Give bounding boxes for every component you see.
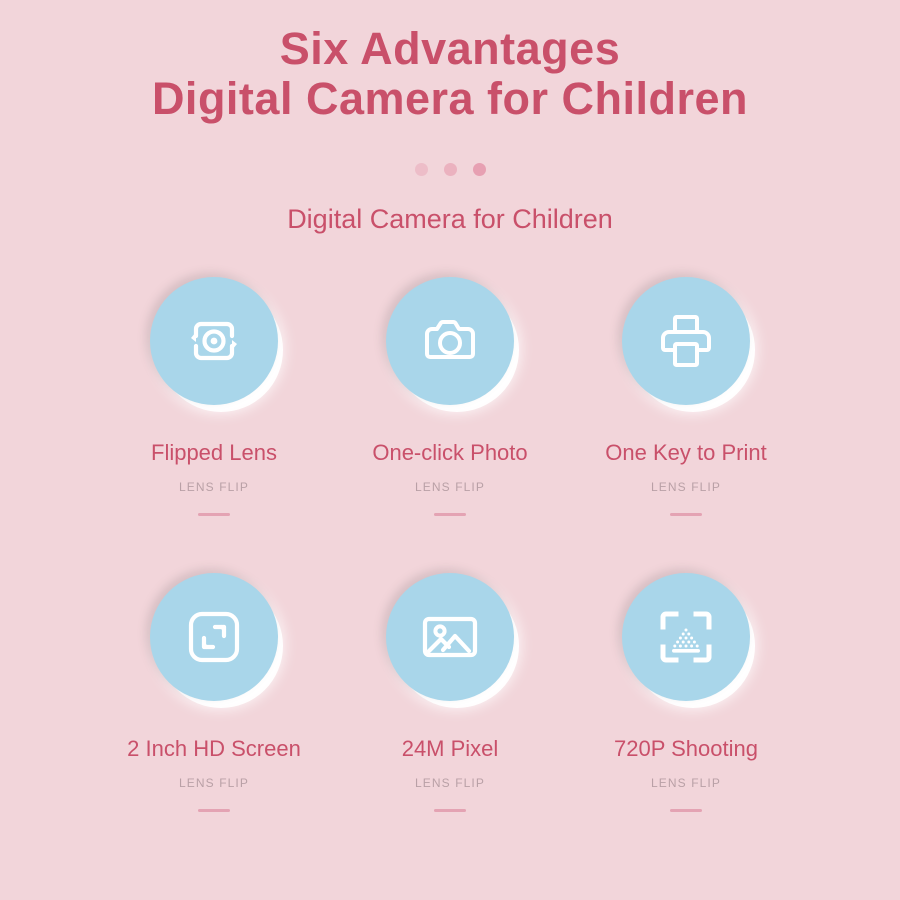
page-header: Six Advantages Digital Camera for Childr… [0,0,900,235]
feature-card-2-inch-hd-screen[interactable]: 2 Inch HD Screen LENS FLIP [96,573,332,869]
camera-icon [419,310,481,372]
decorative-dots [0,163,900,176]
feature-icon-badge [386,573,514,701]
feature-divider [434,809,466,812]
page-title-line-1: Six Advantages [0,24,900,74]
dot-1-icon [415,163,428,176]
feature-title: One Key to Print [605,440,766,466]
feature-card-720p-shooting[interactable]: 720P Shooting LENS FLIP [568,573,804,869]
fullscreen-icon [183,606,245,668]
feature-divider [434,513,466,516]
scan-frame-icon [655,606,717,668]
feature-card-one-key-to-print[interactable]: One Key to Print LENS FLIP [568,277,804,573]
feature-title: 2 Inch HD Screen [127,736,301,762]
feature-icon-badge [150,573,278,701]
feature-icon-badge [386,277,514,405]
feature-divider [670,513,702,516]
feature-title: Flipped Lens [151,440,277,466]
feature-title: One-click Photo [372,440,527,466]
flip-camera-icon [183,310,245,372]
feature-title: 720P Shooting [614,736,758,762]
feature-subtitle: LENS FLIP [415,776,485,790]
feature-card-24m-pixel[interactable]: 24M Pixel LENS FLIP [332,573,568,869]
feature-card-flipped-lens[interactable]: Flipped Lens LENS FLIP [96,277,332,573]
feature-card-one-click-photo[interactable]: One-click Photo LENS FLIP [332,277,568,573]
feature-divider [198,513,230,516]
feature-divider [198,809,230,812]
printer-icon [655,310,717,372]
feature-icon-badge [622,573,750,701]
feature-icon-badge [622,277,750,405]
dot-3-icon [473,163,486,176]
feature-subtitle: LENS FLIP [179,776,249,790]
features-grid: Flipped Lens LENS FLIP One-click Photo L… [0,277,900,869]
page-subtitle: Digital Camera for Children [0,204,900,235]
feature-icon-badge [150,277,278,405]
page-title-line-2: Digital Camera for Children [0,74,900,124]
dot-2-icon [444,163,457,176]
feature-subtitle: LENS FLIP [179,480,249,494]
feature-subtitle: LENS FLIP [651,480,721,494]
feature-subtitle: LENS FLIP [651,776,721,790]
feature-subtitle: LENS FLIP [415,480,485,494]
feature-divider [670,809,702,812]
feature-title: 24M Pixel [402,736,499,762]
promo-page: { "header": { "title_line_1": "Six Advan… [0,0,900,900]
image-icon [419,606,481,668]
